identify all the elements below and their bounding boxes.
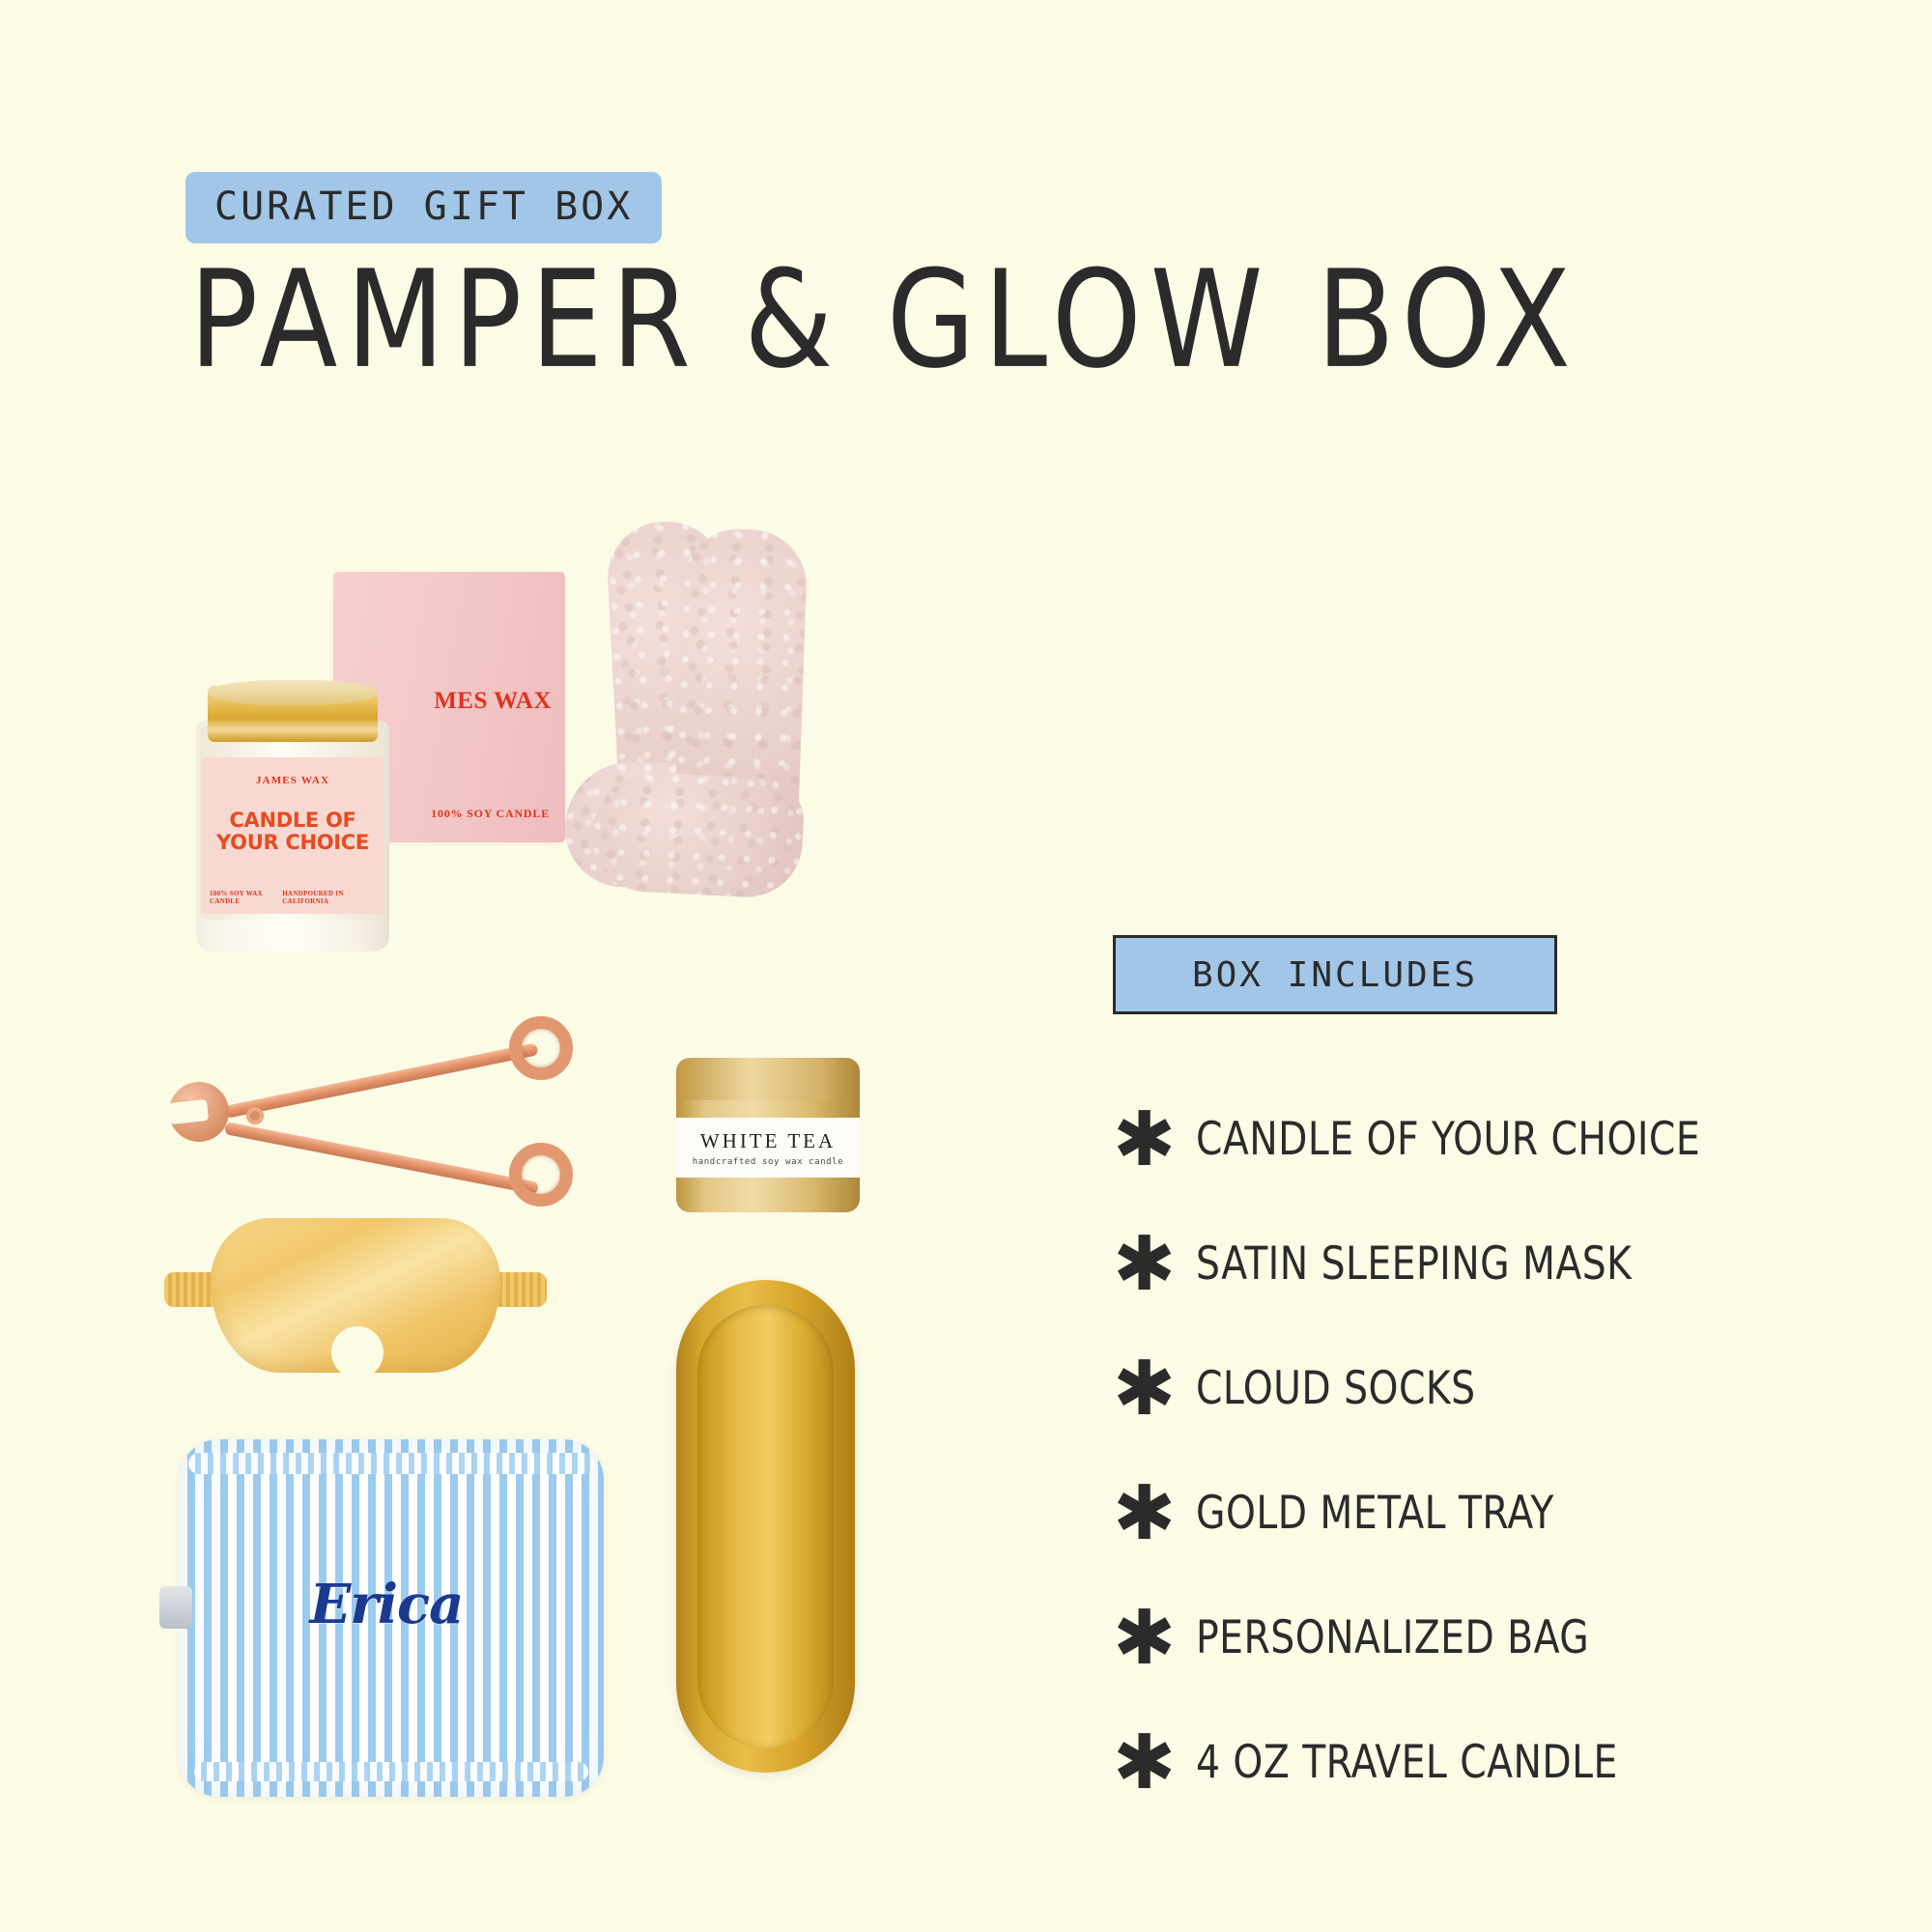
- include-item-label: GOLD METAL TRAY: [1196, 1487, 1554, 1540]
- trimmer-head-notch: [168, 1099, 209, 1124]
- include-item-label: CLOUD SOCKS: [1196, 1362, 1476, 1415]
- bag-piping-bottom: [194, 1762, 588, 1781]
- jar-foot-left: 100% SOY WAX CANDLE: [210, 890, 282, 905]
- jar-foot-right: HANDPOURED IN CALIFORNIA: [282, 890, 376, 905]
- list-item: ✱ SATIN SLEEPING MASK: [1113, 1208, 1905, 1320]
- eyebrow-label: CURATED GIFT BOX: [214, 185, 633, 229]
- tin-label: WHITE TEA handcrafted soy wax candle: [676, 1118, 860, 1178]
- product-gold-tray: [676, 1280, 855, 1773]
- box-includes-label: BOX INCLUDES: [1192, 955, 1478, 995]
- trimmer-arm-lower: [224, 1122, 539, 1195]
- product-sleeping-mask: [153, 1212, 558, 1406]
- product-travel-candle-tin: WHITE TEA handcrafted soy wax candle: [676, 1058, 860, 1212]
- include-item-label: SATIN SLEEPING MASK: [1196, 1237, 1632, 1291]
- list-item: ✱ CANDLE OF YOUR CHOICE: [1113, 1084, 1905, 1195]
- tray-inner-well: [697, 1305, 834, 1747]
- product-cloud-socks: [546, 522, 836, 1043]
- jar-line-2: YOUR CHOICE: [216, 831, 369, 854]
- mask-nose-notch: [331, 1326, 384, 1378]
- trimmer-ring-upper: [509, 1016, 573, 1080]
- jar-footer: 100% SOY WAX CANDLE HANDPOURED IN CALIFO…: [210, 890, 376, 905]
- box-includes-badge: BOX INCLUDES: [1113, 935, 1557, 1014]
- bag-monogram: Erica: [159, 1573, 613, 1636]
- jar-label: JAMES WAX CANDLE OF YOUR CHOICE 100% SOY…: [202, 757, 384, 914]
- tin-lid: [680, 1058, 856, 1100]
- jar-main-text: CANDLE OF YOUR CHOICE: [216, 810, 369, 853]
- product-wick-trimmer: [150, 1009, 584, 1227]
- tin-scent: WHITE TEA: [700, 1129, 836, 1153]
- box-includes-list: ✱ CANDLE OF YOUR CHOICE ✱ SATIN SLEEPING…: [1113, 1084, 1905, 1832]
- eyebrow-badge: CURATED GIFT BOX: [185, 172, 662, 243]
- list-item: ✱ GOLD METAL TRAY: [1113, 1458, 1905, 1569]
- include-item-label: CANDLE OF YOUR CHOICE: [1196, 1113, 1700, 1166]
- trimmer-pivot: [246, 1107, 264, 1124]
- product-candle-jar: JAMES WAX CANDLE OF YOUR CHOICE 100% SOY…: [196, 676, 389, 952]
- list-item: ✱ 4 OZ TRAVEL CANDLE: [1113, 1707, 1905, 1818]
- gift-box-graphic: CURATED GIFT BOX PAMPER & GLOW BOX MES W…: [0, 0, 1932, 1932]
- list-item: ✱ CLOUD SOCKS: [1113, 1333, 1905, 1444]
- asterisk-icon: ✱: [1113, 1227, 1196, 1302]
- trimmer-ring-lower: [509, 1143, 573, 1207]
- include-item-label: 4 OZ TRAVEL CANDLE: [1196, 1736, 1618, 1789]
- jar-brand: JAMES WAX: [256, 775, 329, 786]
- asterisk-icon: ✱: [1113, 1102, 1196, 1178]
- pink-box-subtitle: 100% SOY CANDLE: [431, 807, 550, 821]
- asterisk-icon: ✱: [1113, 1601, 1196, 1676]
- asterisk-icon: ✱: [1113, 1476, 1196, 1551]
- asterisk-icon: ✱: [1113, 1725, 1196, 1801]
- list-item: ✱ PERSONALIZED BAG: [1113, 1582, 1905, 1693]
- product-personalized-bag: Erica: [159, 1439, 613, 1797]
- asterisk-icon: ✱: [1113, 1351, 1196, 1427]
- jar-line-1: CANDLE OF: [229, 809, 355, 832]
- bag-piping-top: [188, 1453, 594, 1474]
- include-item-label: PERSONALIZED BAG: [1196, 1611, 1589, 1664]
- page-title: PAMPER & GLOW BOX: [189, 246, 1579, 394]
- sock-right-foot: [589, 769, 806, 899]
- jar-lid-top: [208, 680, 378, 705]
- tin-subtitle: handcrafted soy wax candle: [693, 1157, 843, 1167]
- trimmer-arm-upper: [224, 1042, 539, 1119]
